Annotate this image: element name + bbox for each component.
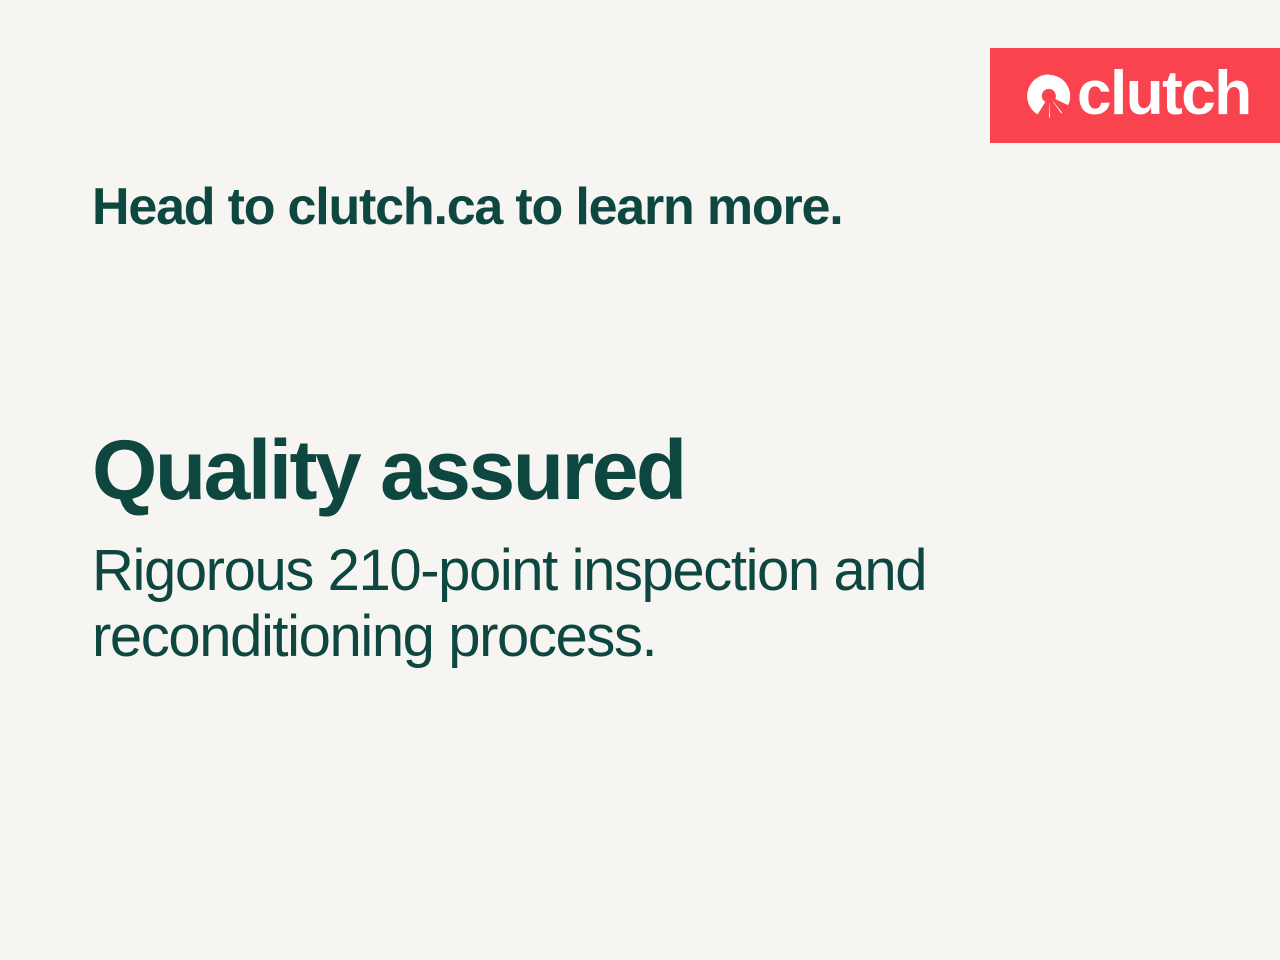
intro-line: Head to clutch.ca to learn more. <box>92 178 842 238</box>
message-block: Quality assured Rigorous 210-point inspe… <box>92 428 1092 669</box>
logo-lockup: clutch <box>1026 65 1251 127</box>
clutch-c-gauge-icon <box>1026 73 1072 119</box>
slide-canvas: clutch Head to clutch.ca to learn more. … <box>0 0 1280 960</box>
subheadline: Rigorous 210-point inspection and recond… <box>92 538 952 669</box>
clutch-logo-badge[interactable]: clutch <box>990 48 1280 143</box>
headline: Quality assured <box>92 428 1092 512</box>
clutch-wordmark: clutch <box>1077 63 1251 125</box>
